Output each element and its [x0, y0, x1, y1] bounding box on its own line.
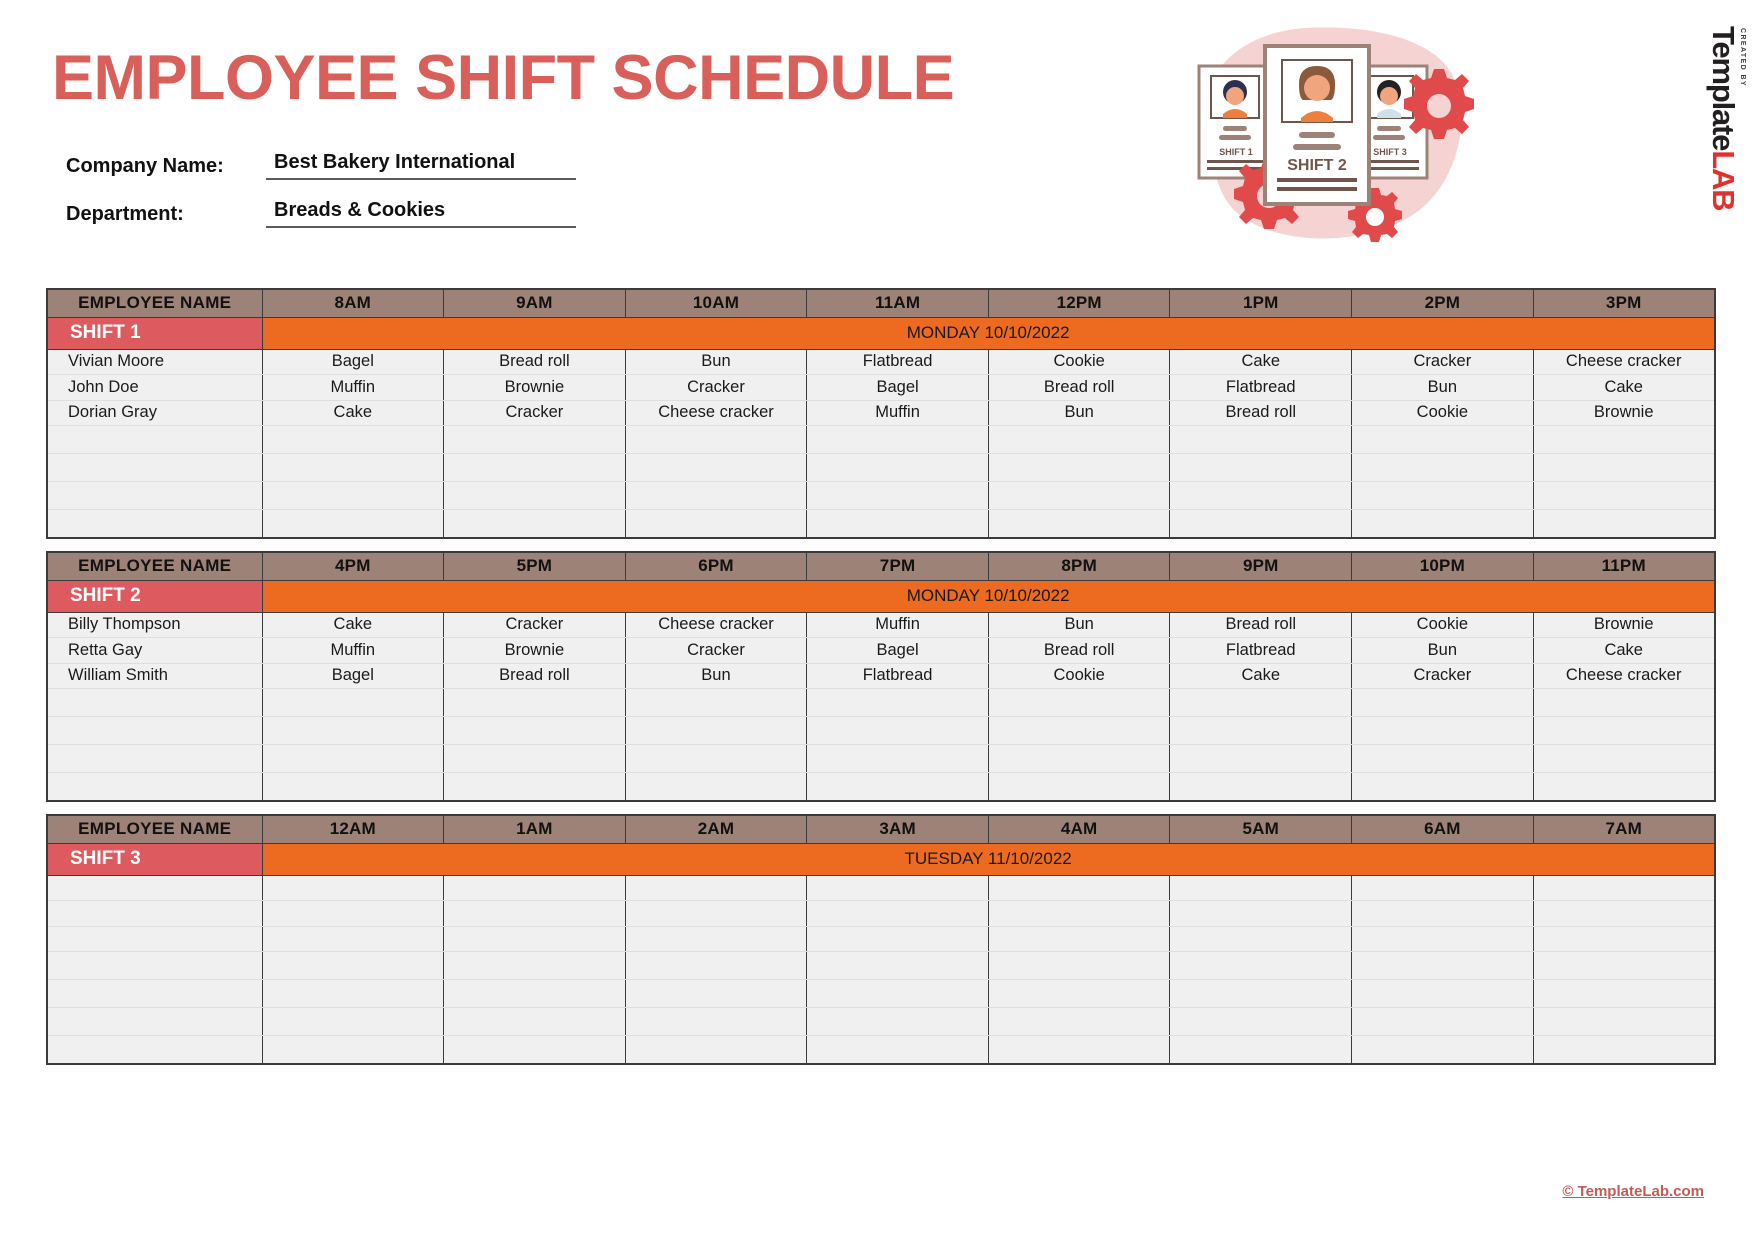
- cell-task-12pm[interactable]: Cookie: [988, 349, 1170, 375]
- table-row: John DoeMuffinBrownieCrackerBagelBread r…: [47, 375, 1715, 401]
- cell-task-7pm[interactable]: Flatbread: [807, 663, 989, 689]
- cell-employee-name[interactable]: Vivian Moore: [47, 349, 262, 375]
- table-header-row: EMPLOYEE NAME8AM9AM10AM11AM12PM1PM2PM3PM: [47, 289, 1715, 317]
- table-row: [47, 510, 1715, 538]
- cell-employee-name[interactable]: [47, 482, 262, 510]
- cell-task-8am[interactable]: [262, 510, 444, 538]
- department-row: Department: Breads & Cookies: [66, 196, 576, 228]
- cell-task-8am[interactable]: Bagel: [262, 349, 444, 375]
- header-hour-8pm: 8PM: [988, 552, 1170, 580]
- cell-task-2pm[interactable]: Bun: [1352, 375, 1534, 401]
- cell-task-4pm[interactable]: Muffin: [262, 638, 444, 664]
- header-hour-4am: 4AM: [988, 815, 1170, 843]
- cell-task-8pm[interactable]: [988, 717, 1170, 745]
- header-hour-10am: 10AM: [625, 289, 807, 317]
- cell-task-2pm[interactable]: Cracker: [1352, 349, 1534, 375]
- cell-employee-name[interactable]: [47, 980, 262, 1008]
- company-name-value: Best Bakery International: [274, 149, 576, 175]
- table-row: Billy ThompsonCakeCrackerCheese crackerM…: [47, 612, 1715, 638]
- cell-task-5am[interactable]: [1170, 926, 1352, 952]
- cell-task-5am[interactable]: [1170, 980, 1352, 1008]
- cell-task-1pm[interactable]: Bread roll: [1170, 400, 1352, 426]
- cell-task-12pm[interactable]: [988, 482, 1170, 510]
- cell-task-6pm[interactable]: [625, 717, 807, 745]
- cell-task-9am[interactable]: Cracker: [444, 400, 626, 426]
- shift-card-1: SHIFT 1: [1199, 66, 1273, 178]
- cell-task-11am[interactable]: Muffin: [807, 400, 989, 426]
- cell-task-2am[interactable]: [625, 1008, 807, 1036]
- cell-task-7am[interactable]: [1533, 980, 1715, 1008]
- header-hour-9pm: 9PM: [1170, 552, 1352, 580]
- cell-task-9pm[interactable]: Flatbread: [1170, 638, 1352, 664]
- cell-task-5pm[interactable]: [444, 689, 626, 717]
- cell-task-11pm[interactable]: [1533, 717, 1715, 745]
- header-hour-7am: 7AM: [1533, 815, 1715, 843]
- header-hour-2am: 2AM: [625, 815, 807, 843]
- cell-task-1pm[interactable]: [1170, 426, 1352, 454]
- cell-task-1am[interactable]: [444, 952, 626, 980]
- header-hour-12pm: 12PM: [988, 289, 1170, 317]
- cell-employee-name[interactable]: [47, 952, 262, 980]
- header-hour-2pm: 2PM: [1352, 289, 1534, 317]
- cell-task-11pm[interactable]: [1533, 773, 1715, 801]
- cell-task-11pm[interactable]: Cheese cracker: [1533, 663, 1715, 689]
- header-hour-10pm: 10PM: [1352, 552, 1534, 580]
- company-name-row: Company Name: Best Bakery International: [66, 148, 576, 180]
- shift-date-banner[interactable]: MONDAY 10/10/2022: [262, 317, 1715, 349]
- cell-task-8am[interactable]: [262, 454, 444, 482]
- cell-employee-name[interactable]: [47, 926, 262, 952]
- cell-task-7am[interactable]: [1533, 1008, 1715, 1036]
- cell-task-1pm[interactable]: [1170, 510, 1352, 538]
- department-field[interactable]: Breads & Cookies: [266, 197, 576, 228]
- cell-task-10pm[interactable]: [1352, 717, 1534, 745]
- cell-task-8am[interactable]: Muffin: [262, 375, 444, 401]
- cell-task-11pm[interactable]: Brownie: [1533, 612, 1715, 638]
- cell-task-8pm[interactable]: [988, 773, 1170, 801]
- company-name-field[interactable]: Best Bakery International: [266, 149, 576, 180]
- cell-task-7pm[interactable]: [807, 773, 989, 801]
- table-row: [47, 773, 1715, 801]
- shift-date-row: SHIFT 1MONDAY 10/10/2022: [47, 317, 1715, 349]
- cell-task-9am[interactable]: [444, 482, 626, 510]
- cell-task-3pm[interactable]: [1533, 510, 1715, 538]
- cell-employee-name[interactable]: [47, 454, 262, 482]
- cell-task-10am[interactable]: Cracker: [625, 375, 807, 401]
- footer-copyright[interactable]: © TemplateLab.com: [1562, 1183, 1704, 1200]
- cell-task-1am[interactable]: [444, 926, 626, 952]
- cell-task-2pm[interactable]: [1352, 482, 1534, 510]
- cell-task-11am[interactable]: [807, 510, 989, 538]
- cell-task-3am[interactable]: [807, 926, 989, 952]
- header-hour-1pm: 1PM: [1170, 289, 1352, 317]
- cell-task-8pm[interactable]: Bread roll: [988, 638, 1170, 664]
- cell-task-3am[interactable]: [807, 1008, 989, 1036]
- cell-task-4am[interactable]: [988, 980, 1170, 1008]
- header-hour-4pm: 4PM: [262, 552, 444, 580]
- cell-task-1pm[interactable]: [1170, 482, 1352, 510]
- shift-badge: SHIFT 3: [47, 843, 262, 875]
- cell-task-4pm[interactable]: [262, 717, 444, 745]
- cell-task-11pm[interactable]: Cake: [1533, 638, 1715, 664]
- table-row: [47, 952, 1715, 980]
- table-row: [47, 482, 1715, 510]
- cell-task-12pm[interactable]: Bread roll: [988, 375, 1170, 401]
- shift-cards-illustration: SHIFT 1 SHIFT 3: [1185, 18, 1485, 258]
- cell-task-10am[interactable]: [625, 482, 807, 510]
- header-hour-6pm: 6PM: [625, 552, 807, 580]
- cell-task-3am[interactable]: [807, 952, 989, 980]
- table-header-row: EMPLOYEE NAME12AM1AM2AM3AM4AM5AM6AM7AM: [47, 815, 1715, 843]
- cell-task-6am[interactable]: [1352, 952, 1534, 980]
- cell-task-7am[interactable]: [1533, 926, 1715, 952]
- cell-employee-name[interactable]: [47, 875, 262, 901]
- cell-task-9pm[interactable]: [1170, 689, 1352, 717]
- cell-task-7am[interactable]: [1533, 901, 1715, 927]
- cell-task-11pm[interactable]: [1533, 745, 1715, 773]
- cell-task-4am[interactable]: [988, 901, 1170, 927]
- header-hour-11pm: 11PM: [1533, 552, 1715, 580]
- department-label: Department:: [66, 200, 266, 228]
- cell-task-5am[interactable]: [1170, 901, 1352, 927]
- header-employee-name: EMPLOYEE NAME: [47, 815, 262, 843]
- templatelab-logo: CREATED BY TemplateLAB: [1642, 20, 1752, 155]
- cell-task-9am[interactable]: [444, 510, 626, 538]
- cell-task-2pm[interactable]: [1352, 426, 1534, 454]
- cell-task-5pm[interactable]: [444, 745, 626, 773]
- cell-task-9am[interactable]: [444, 454, 626, 482]
- cell-task-1pm[interactable]: Flatbread: [1170, 375, 1352, 401]
- shift-card-3-label: SHIFT 3: [1373, 147, 1407, 157]
- table-row: [47, 1008, 1715, 1036]
- shift-card-1-label: SHIFT 1: [1219, 147, 1253, 157]
- cell-task-7pm[interactable]: Muffin: [807, 612, 989, 638]
- cell-employee-name[interactable]: [47, 510, 262, 538]
- cell-task-11am[interactable]: Flatbread: [807, 349, 989, 375]
- cell-task-9pm[interactable]: Cake: [1170, 663, 1352, 689]
- gear-icon-top-right: [1404, 69, 1474, 139]
- shift-date-banner[interactable]: TUESDAY 11/10/2022: [262, 843, 1715, 875]
- cell-task-2pm[interactable]: [1352, 454, 1534, 482]
- cell-task-11am[interactable]: Bagel: [807, 375, 989, 401]
- cell-employee-name[interactable]: [47, 717, 262, 745]
- cell-task-11am[interactable]: [807, 426, 989, 454]
- shift-badge: SHIFT 2: [47, 580, 262, 612]
- cell-task-8pm[interactable]: [988, 745, 1170, 773]
- cell-task-5pm[interactable]: Cracker: [444, 612, 626, 638]
- cell-employee-name[interactable]: [47, 773, 262, 801]
- department-value: Breads & Cookies: [274, 197, 576, 223]
- cell-task-4am[interactable]: [988, 1008, 1170, 1036]
- cell-task-11am[interactable]: [807, 482, 989, 510]
- shift-date-banner[interactable]: MONDAY 10/10/2022: [262, 580, 1715, 612]
- cell-task-10pm[interactable]: [1352, 773, 1534, 801]
- cell-task-7am[interactable]: [1533, 952, 1715, 980]
- table-row: [47, 689, 1715, 717]
- cell-task-4am[interactable]: [988, 952, 1170, 980]
- header-hour-11am: 11AM: [807, 289, 989, 317]
- cell-task-2pm[interactable]: [1352, 510, 1534, 538]
- cell-task-7pm[interactable]: [807, 745, 989, 773]
- cell-task-10pm[interactable]: Bun: [1352, 638, 1534, 664]
- cell-task-4pm[interactable]: Bagel: [262, 663, 444, 689]
- cell-task-10pm[interactable]: Cracker: [1352, 663, 1534, 689]
- cell-task-9pm[interactable]: [1170, 773, 1352, 801]
- shift-badge: SHIFT 1: [47, 317, 262, 349]
- cell-task-3pm[interactable]: Brownie: [1533, 400, 1715, 426]
- cell-task-7pm[interactable]: [807, 717, 989, 745]
- cell-task-9am[interactable]: Bread roll: [444, 349, 626, 375]
- cell-task-10pm[interactable]: Cookie: [1352, 612, 1534, 638]
- cell-task-1pm[interactable]: Cake: [1170, 349, 1352, 375]
- cell-task-1am[interactable]: [444, 901, 626, 927]
- cell-task-4am[interactable]: [988, 926, 1170, 952]
- table-row: [47, 926, 1715, 952]
- cell-task-3pm[interactable]: [1533, 426, 1715, 454]
- cell-task-3am[interactable]: [807, 875, 989, 901]
- cell-task-12pm[interactable]: [988, 510, 1170, 538]
- cell-task-1am[interactable]: [444, 875, 626, 901]
- cell-task-4pm[interactable]: [262, 745, 444, 773]
- cell-task-10am[interactable]: [625, 426, 807, 454]
- cell-employee-name[interactable]: Dorian Gray: [47, 400, 262, 426]
- header-hour-7pm: 7PM: [807, 552, 989, 580]
- logo-lab-text: LAB: [1706, 150, 1741, 210]
- cell-task-12am[interactable]: [262, 1036, 444, 1064]
- cell-task-9pm[interactable]: Bread roll: [1170, 612, 1352, 638]
- cell-task-8am[interactable]: [262, 426, 444, 454]
- cell-task-6am[interactable]: [1352, 980, 1534, 1008]
- table-row: [47, 454, 1715, 482]
- cell-task-8pm[interactable]: [988, 689, 1170, 717]
- cell-task-6pm[interactable]: [625, 745, 807, 773]
- cell-task-9pm[interactable]: [1170, 745, 1352, 773]
- header-employee-name: EMPLOYEE NAME: [47, 289, 262, 317]
- cell-task-12am[interactable]: [262, 952, 444, 980]
- cell-task-6am[interactable]: [1352, 1008, 1534, 1036]
- cell-task-12pm[interactable]: Bun: [988, 400, 1170, 426]
- cell-task-4pm[interactable]: [262, 773, 444, 801]
- header-hour-3am: 3AM: [807, 815, 989, 843]
- cell-task-7pm[interactable]: [807, 689, 989, 717]
- cell-task-5am[interactable]: [1170, 1036, 1352, 1064]
- cell-task-4am[interactable]: [988, 875, 1170, 901]
- cell-task-12pm[interactable]: [988, 454, 1170, 482]
- logo-template-text: Template: [1706, 26, 1741, 150]
- table-row: [47, 745, 1715, 773]
- table-row: [47, 426, 1715, 454]
- cell-task-2am[interactable]: [625, 980, 807, 1008]
- cell-task-4pm[interactable]: Cake: [262, 612, 444, 638]
- header-hour-6am: 6AM: [1352, 815, 1534, 843]
- page-root: EMPLOYEE SHIFT SCHEDULE Company Name: Be…: [0, 0, 1754, 1240]
- cell-employee-name[interactable]: [47, 426, 262, 454]
- cell-task-8am[interactable]: Cake: [262, 400, 444, 426]
- cell-task-4am[interactable]: [988, 1036, 1170, 1064]
- header-employee-name: EMPLOYEE NAME: [47, 552, 262, 580]
- cell-employee-name[interactable]: [47, 901, 262, 927]
- cell-task-7am[interactable]: [1533, 875, 1715, 901]
- cell-task-10pm[interactable]: [1352, 745, 1534, 773]
- cell-task-10am[interactable]: Bun: [625, 349, 807, 375]
- cell-employee-name[interactable]: John Doe: [47, 375, 262, 401]
- cell-employee-name[interactable]: [47, 689, 262, 717]
- company-name-label: Company Name:: [66, 152, 266, 180]
- cell-employee-name[interactable]: [47, 745, 262, 773]
- cell-task-12am[interactable]: [262, 926, 444, 952]
- table-row: Retta GayMuffinBrownieCrackerBagelBread …: [47, 638, 1715, 664]
- shift-table-1: EMPLOYEE NAME8AM9AM10AM11AM12PM1PM2PM3PM…: [46, 288, 1716, 539]
- cell-task-9am[interactable]: Brownie: [444, 375, 626, 401]
- cell-task-12am[interactable]: [262, 875, 444, 901]
- cell-task-3am[interactable]: [807, 980, 989, 1008]
- cell-task-3pm[interactable]: Cake: [1533, 375, 1715, 401]
- cell-task-5pm[interactable]: Bread roll: [444, 663, 626, 689]
- cell-employee-name[interactable]: [47, 1036, 262, 1064]
- cell-task-4pm[interactable]: [262, 689, 444, 717]
- header-hour-3pm: 3PM: [1533, 289, 1715, 317]
- cell-employee-name[interactable]: Billy Thompson: [47, 612, 262, 638]
- cell-task-5am[interactable]: [1170, 1008, 1352, 1036]
- cell-employee-name[interactable]: William Smith: [47, 663, 262, 689]
- cell-task-6pm[interactable]: Cheese cracker: [625, 612, 807, 638]
- cell-task-6pm[interactable]: [625, 689, 807, 717]
- cell-task-12am[interactable]: [262, 1008, 444, 1036]
- cell-task-3pm[interactable]: [1533, 454, 1715, 482]
- cell-task-2am[interactable]: [625, 901, 807, 927]
- cell-task-8pm[interactable]: Cookie: [988, 663, 1170, 689]
- cell-task-10am[interactable]: [625, 510, 807, 538]
- cell-employee-name[interactable]: Retta Gay: [47, 638, 262, 664]
- cell-task-2am[interactable]: [625, 926, 807, 952]
- header-hour-5pm: 5PM: [444, 552, 626, 580]
- shift-date-row: SHIFT 2MONDAY 10/10/2022: [47, 580, 1715, 612]
- cell-task-5pm[interactable]: [444, 773, 626, 801]
- header-hour-5am: 5AM: [1170, 815, 1352, 843]
- table-header-row: EMPLOYEE NAME4PM5PM6PM7PM8PM9PM10PM11PM: [47, 552, 1715, 580]
- cell-task-5pm[interactable]: [444, 717, 626, 745]
- cell-task-5pm[interactable]: Brownie: [444, 638, 626, 664]
- cell-task-2am[interactable]: [625, 952, 807, 980]
- cell-task-5am[interactable]: [1170, 952, 1352, 980]
- cell-task-3am[interactable]: [807, 1036, 989, 1064]
- cell-task-3pm[interactable]: [1533, 482, 1715, 510]
- header-hour-9am: 9AM: [444, 289, 626, 317]
- shift-card-2: SHIFT 2: [1265, 46, 1369, 204]
- shift-date-row: SHIFT 3TUESDAY 11/10/2022: [47, 843, 1715, 875]
- header-hour-8am: 8AM: [262, 289, 444, 317]
- cell-task-1am[interactable]: [444, 1008, 626, 1036]
- table-row: [47, 717, 1715, 745]
- cell-task-6am[interactable]: [1352, 1036, 1534, 1064]
- cell-task-2am[interactable]: [625, 875, 807, 901]
- cell-task-7pm[interactable]: Bagel: [807, 638, 989, 664]
- header-hour-1am: 1AM: [444, 815, 626, 843]
- shift-table-2: EMPLOYEE NAME4PM5PM6PM7PM8PM9PM10PM11PMS…: [46, 551, 1716, 802]
- table-row: [47, 1036, 1715, 1064]
- table-row: William SmithBagelBread rollBunFlatbread…: [47, 663, 1715, 689]
- page-title: EMPLOYEE SHIFT SCHEDULE: [52, 42, 954, 114]
- cell-task-9pm[interactable]: [1170, 717, 1352, 745]
- cell-task-9am[interactable]: [444, 426, 626, 454]
- cell-task-12am[interactable]: [262, 901, 444, 927]
- cell-task-6pm[interactable]: Bun: [625, 663, 807, 689]
- cell-task-5am[interactable]: [1170, 875, 1352, 901]
- shift-card-2-label: SHIFT 2: [1287, 157, 1347, 174]
- cell-task-8pm[interactable]: Bun: [988, 612, 1170, 638]
- cell-task-3pm[interactable]: Cheese cracker: [1533, 349, 1715, 375]
- table-row: Dorian GrayCakeCrackerCheese crackerMuff…: [47, 400, 1715, 426]
- cell-task-1pm[interactable]: [1170, 454, 1352, 482]
- cell-task-1am[interactable]: [444, 1036, 626, 1064]
- cell-task-6pm[interactable]: [625, 773, 807, 801]
- cell-task-11am[interactable]: [807, 454, 989, 482]
- cell-task-3am[interactable]: [807, 901, 989, 927]
- table-row: [47, 980, 1715, 1008]
- cell-task-11pm[interactable]: [1533, 689, 1715, 717]
- shift-table-3: EMPLOYEE NAME12AM1AM2AM3AM4AM5AM6AM7AMSH…: [46, 814, 1716, 1065]
- cell-employee-name[interactable]: [47, 1008, 262, 1036]
- cell-task-6am[interactable]: [1352, 901, 1534, 927]
- cell-task-12pm[interactable]: [988, 426, 1170, 454]
- cell-task-2am[interactable]: [625, 1036, 807, 1064]
- cell-task-1am[interactable]: [444, 980, 626, 1008]
- cell-task-2pm[interactable]: Cookie: [1352, 400, 1534, 426]
- meta-fields: Company Name: Best Bakery International …: [66, 148, 576, 244]
- cell-task-12am[interactable]: [262, 980, 444, 1008]
- cell-task-8am[interactable]: [262, 482, 444, 510]
- table-row: Vivian MooreBagelBread rollBunFlatbreadC…: [47, 349, 1715, 375]
- cell-task-10am[interactable]: Cheese cracker: [625, 400, 807, 426]
- cell-task-10am[interactable]: [625, 454, 807, 482]
- cell-task-6am[interactable]: [1352, 926, 1534, 952]
- cell-task-7am[interactable]: [1533, 1036, 1715, 1064]
- table-row: [47, 875, 1715, 901]
- cell-task-6am[interactable]: [1352, 875, 1534, 901]
- cell-task-10pm[interactable]: [1352, 689, 1534, 717]
- header-hour-12am: 12AM: [262, 815, 444, 843]
- table-row: [47, 901, 1715, 927]
- cell-task-6pm[interactable]: Cracker: [625, 638, 807, 664]
